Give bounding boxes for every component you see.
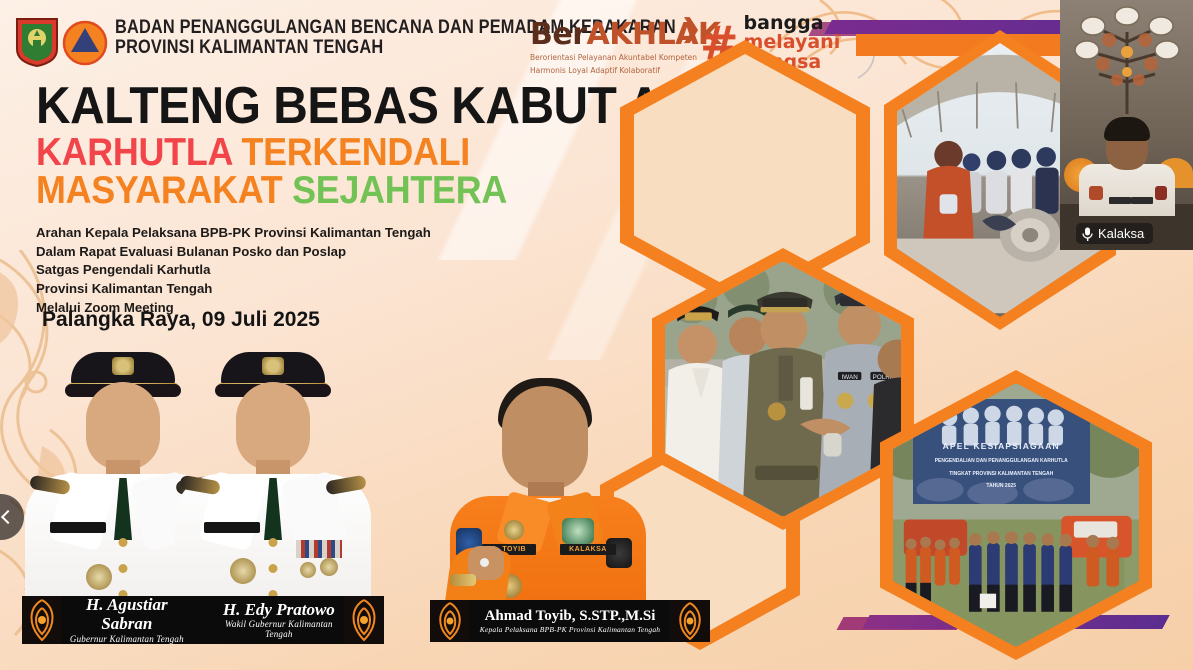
dayak-ornament-right-cap xyxy=(344,596,384,644)
uniform-badge-emblem xyxy=(562,518,594,544)
title-sejahtera: SEJAHTERA xyxy=(292,169,507,212)
official-1-role: Gubernur Kalimantan Tengah xyxy=(62,634,192,644)
banner-line-4: TAHUN 2025 xyxy=(913,483,1090,489)
medal-ribbons xyxy=(296,540,342,558)
event-date: Palangka Raya, 09 Juli 2025 xyxy=(42,308,320,332)
governor-photos xyxy=(18,352,368,602)
name-tag xyxy=(1109,197,1131,204)
dayak-ornament-left-cap xyxy=(22,596,62,644)
presentation-slide: BADAN PENANGGULANGAN BENCANA DAN PEMADAM… xyxy=(0,0,1193,670)
official-2-block: H. Edy Pratowo Wakil Gubernur Kalimantan… xyxy=(214,601,344,640)
official-1-block: H. Agustiar Sabran Gubernur Kalimantan T… xyxy=(62,596,192,643)
dayak-ornament-right-cap-2 xyxy=(670,600,710,642)
medal xyxy=(230,558,256,584)
medal xyxy=(300,562,316,578)
face xyxy=(502,386,588,490)
participant-person xyxy=(1079,120,1175,216)
kalaksa-nameplate-text: Ahmad Toyib, S.STP.,M.Si Kepala Pelaksan… xyxy=(470,600,670,642)
title-masyarakat: MASYARAKAT xyxy=(36,169,282,212)
name-tag-2 xyxy=(1131,197,1153,204)
banner-line-1: APEL KESIAPSIAGAAN xyxy=(913,441,1090,451)
ring xyxy=(480,558,489,567)
banner-line-2: PENGENDALIAN DAN PENANGGULANGAN KARHUTLA xyxy=(913,458,1090,464)
chevron-left-icon xyxy=(1,510,15,524)
berakhlak-prefix: Ber xyxy=(530,17,587,52)
kalaksa-name: Ahmad Toyib, S.STP.,M.Si xyxy=(480,608,660,625)
kalaksa-figure: A. TOYIB KALAKSA xyxy=(440,378,660,610)
subtitle-line: Provinsi Kalimantan Tengah xyxy=(36,280,431,299)
berakhlak-logo: BerAKHLAK ❯ Berorientasi Pelayanan Akunt… xyxy=(530,20,721,76)
bnpb-logo-icon xyxy=(62,20,108,66)
subtitle-line: Arahan Kepala Pelaksana BPB-PK Provinsi … xyxy=(36,224,431,243)
official-2-name: H. Edy Pratowo xyxy=(214,601,344,620)
microphone-icon xyxy=(1082,227,1093,241)
medal xyxy=(320,558,338,576)
name-tag xyxy=(204,522,260,533)
uniform-badge xyxy=(504,520,524,540)
slide-subtitle: Arahan Kepala Pelaksana BPB-PK Provinsi … xyxy=(36,224,431,318)
medal xyxy=(86,564,112,590)
berakhlak-arrow-icon: ❯ xyxy=(680,16,701,42)
ceremony-banner: APEL KESIAPSIAGAAN PENGENDALIAN DAN PENA… xyxy=(913,399,1090,505)
svg-text:IWAN: IWAN xyxy=(842,374,859,381)
title-karhutla: KARHUTLA xyxy=(36,131,232,174)
governor-nameplate: H. Agustiar Sabran Gubernur Kalimantan T… xyxy=(22,596,384,644)
zoom-participant-video-tile[interactable]: Kalaksa xyxy=(1060,0,1193,250)
decorative-tree-artwork xyxy=(1073,6,1181,116)
photo-handshake: IWAN POLRI xyxy=(665,261,901,517)
official-2-role: Wakil Gubernur Kalimantan Tengah xyxy=(214,619,344,639)
kalteng-province-emblem-icon xyxy=(14,16,60,68)
subtitle-line: Dalam Rapat Evaluasi Bulanan Posko dan P… xyxy=(36,243,431,262)
nameplate-text-area: H. Agustiar Sabran Gubernur Kalimantan T… xyxy=(62,596,344,644)
kalaksa-role: Kepala Pelaksana BPB-PK Provinsi Kaliman… xyxy=(480,625,660,634)
official-1-name: H. Agustiar Sabran xyxy=(62,596,192,633)
participant-name-label: Kalaksa xyxy=(1076,223,1153,244)
subtitle-line: Satgas Pengendali Karhutla xyxy=(36,261,431,280)
photo-apel-ceremony: APEL KESIAPSIAGAAN PENGENDALIAN DAN PENA… xyxy=(893,383,1139,647)
berakhlak-tagline-1: Berorientasi Pelayanan Akuntabel Kompete… xyxy=(530,53,721,63)
participant-label-text: Kalaksa xyxy=(1098,226,1144,241)
kalaksa-nameplate: Ahmad Toyib, S.STP.,M.Si Kepala Pelaksan… xyxy=(430,600,710,642)
banner-line-3: TINGKAT PROVINSI KALIMANTAN TENGAH xyxy=(913,471,1090,477)
dayak-ornament-left-cap-2 xyxy=(430,600,470,642)
shoulder-patch-2 xyxy=(1155,186,1167,200)
face xyxy=(86,382,160,470)
governor-figure-2 xyxy=(178,352,368,602)
face xyxy=(236,382,310,470)
title-terkendali: TERKENDALI xyxy=(241,131,469,174)
name-tag xyxy=(50,522,106,533)
wristwatch xyxy=(450,574,476,586)
participant-hair xyxy=(1104,117,1150,141)
uniform-nametag-right: KALAKSA xyxy=(560,544,616,555)
shoulder-patch xyxy=(1089,186,1103,200)
